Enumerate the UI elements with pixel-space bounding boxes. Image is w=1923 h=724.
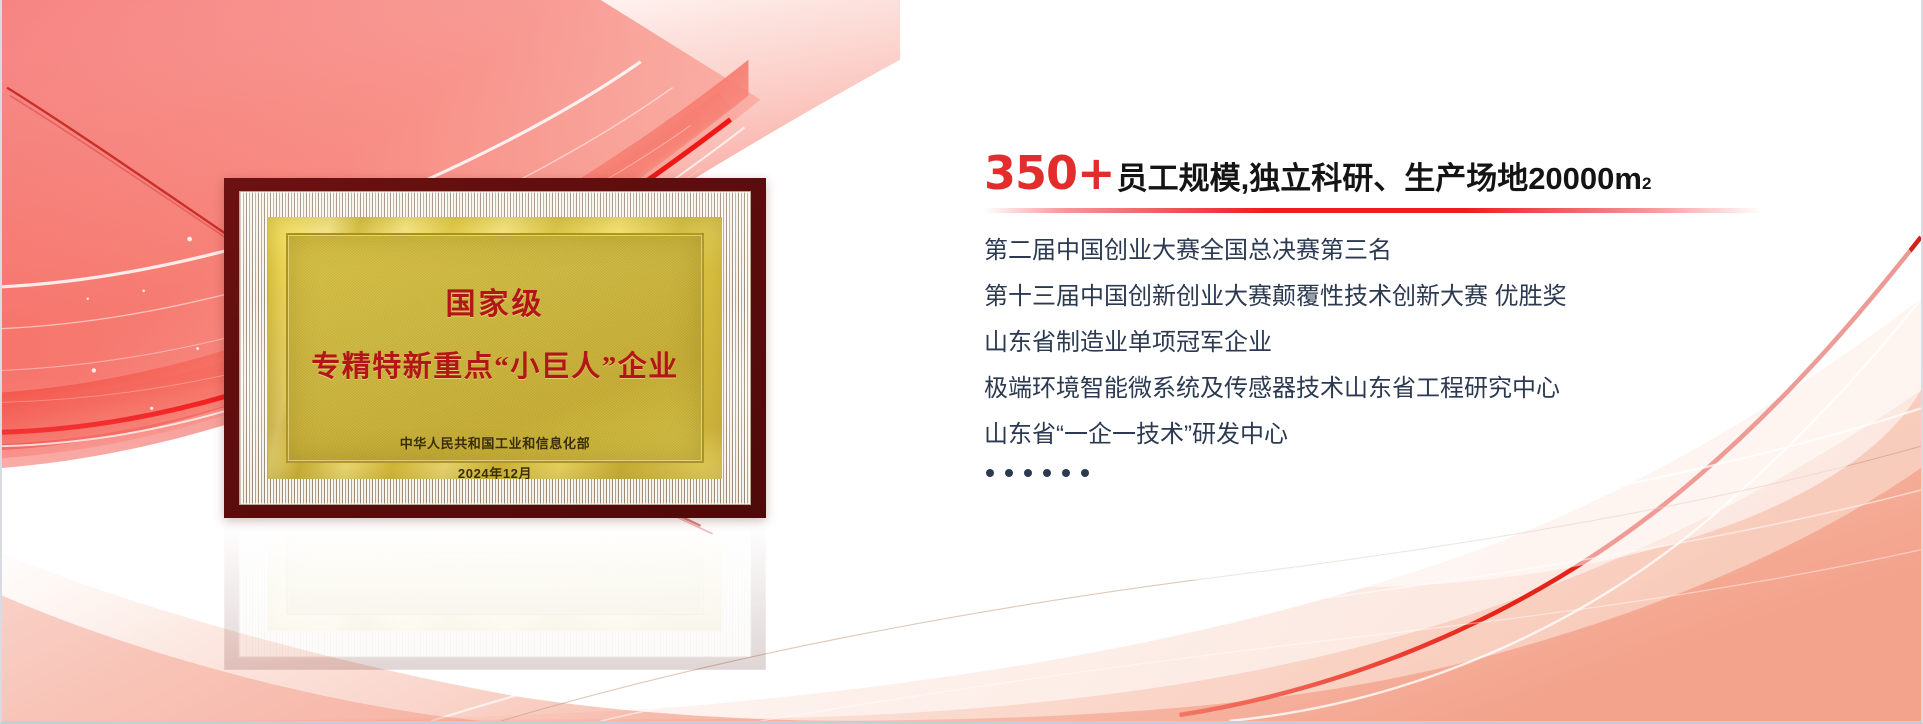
plaque-frame: 国家级 专精特新重点“小巨人”企业 中华人民共和国工业和信息化部 2024年12… — [224, 178, 766, 518]
plaque-title: 国家级 — [446, 279, 545, 323]
ellipsis-dots — [986, 469, 1804, 477]
list-item: 山东省“一企一技术”研发中心 — [984, 423, 1804, 447]
headline-superscript: 2 — [1642, 175, 1651, 192]
list-item: 山东省制造业单项冠军企业 — [984, 331, 1804, 355]
ellipsis-dot — [1024, 469, 1032, 477]
content-column: 350+ 员工规模,独立科研、生产场地20000m 2 第二届中国创业大赛全国总… — [984, 150, 1804, 477]
list-item: 第二届中国创业大赛全国总决赛第三名 — [984, 239, 1804, 263]
list-item: 第十三届中国创新创业大赛颠覆性技术创新大赛 优胜奖 — [984, 285, 1804, 309]
honors-list: 第二届中国创业大赛全国总决赛第三名 第十三届中国创新创业大赛颠覆性技术创新大赛 … — [984, 239, 1804, 447]
headline-number: 350+ — [984, 150, 1115, 196]
headline: 350+ 员工规模,独立科研、生产场地20000m 2 — [984, 150, 1804, 196]
honors-banner: 国家级 专精特新重点“小巨人”企业 中华人民共和国工业和信息化部 2024年12… — [0, 0, 1923, 724]
ellipsis-dot — [986, 469, 994, 477]
ellipsis-dot — [1081, 469, 1089, 477]
ellipsis-dot — [1062, 469, 1070, 477]
ellipsis-dot — [1005, 469, 1013, 477]
headline-text: 员工规模,独立科研、生产场地20000m — [1117, 163, 1642, 194]
plaque-issuer: 中华人民共和国工业和信息化部 — [400, 433, 590, 452]
plaque-inner-field: 国家级 专精特新重点“小巨人”企业 中华人民共和国工业和信息化部 2024年12… — [286, 233, 704, 463]
plaque-reflection — [224, 520, 766, 670]
plaque-date: 2024年12月 — [458, 463, 532, 479]
plaque-subtitle: 专精特新重点“小巨人”企业 — [311, 343, 679, 385]
ellipsis-dot — [1043, 469, 1051, 477]
award-plaque: 国家级 专精特新重点“小巨人”企业 中华人民共和国工业和信息化部 2024年12… — [224, 178, 766, 518]
list-item: 极端环境智能微系统及传感器技术山东省工程研究中心 — [984, 377, 1804, 401]
plaque-gold-plate: 国家级 专精特新重点“小巨人”企业 中华人民共和国工业和信息化部 2024年12… — [268, 217, 722, 479]
headline-divider — [984, 208, 1762, 213]
plaque-ornamental-band: 国家级 专精特新重点“小巨人”企业 中华人民共和国工业和信息化部 2024年12… — [239, 191, 751, 505]
